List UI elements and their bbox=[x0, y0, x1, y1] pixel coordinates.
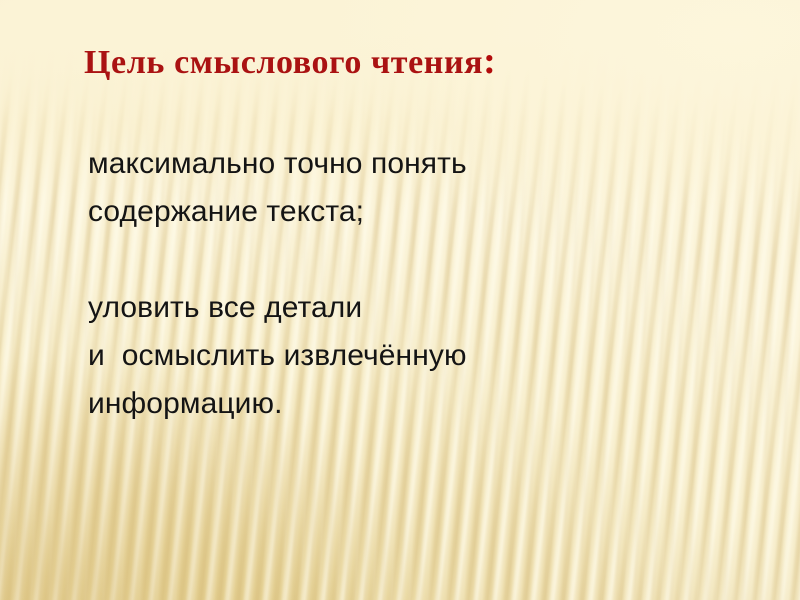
body-line: и осмыслить извлечённую bbox=[88, 332, 728, 380]
slide-title-colon: : bbox=[483, 40, 496, 82]
body-line: информацию. bbox=[88, 380, 728, 428]
slide-body: максимально точно понять содержание текс… bbox=[88, 140, 728, 428]
slide-canvas: Цель смыслового чтения: максимально точн… bbox=[0, 0, 800, 600]
body-line: уловить все детали bbox=[88, 284, 728, 332]
paragraph-spacer bbox=[88, 236, 728, 284]
body-line: максимально точно понять bbox=[88, 140, 728, 188]
body-line: содержание текста; bbox=[88, 188, 728, 236]
slide-title-text: Цель смыслового чтения bbox=[84, 44, 483, 81]
slide-title: Цель смыслового чтения: bbox=[84, 40, 496, 83]
slide-content: Цель смыслового чтения: максимально точн… bbox=[0, 0, 800, 600]
